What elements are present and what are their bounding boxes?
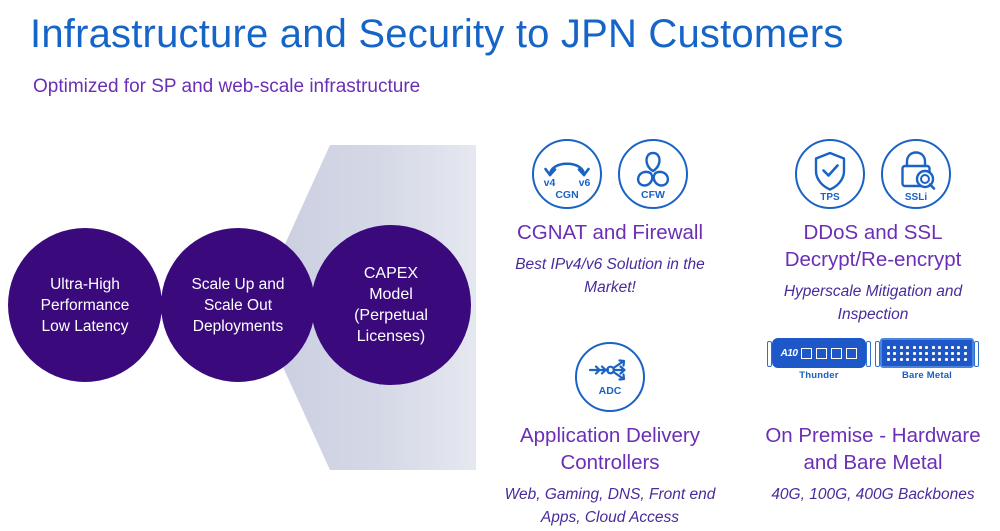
pillar-circle-scale: Scale Up and Scale Out Deployments	[161, 228, 315, 382]
feature-cgnat-heading: CGNAT and Firewall	[490, 219, 730, 246]
cgn-icon: v4 v6 CGN	[532, 139, 602, 209]
feature-hardware-heading: On Premise - Hardware and Bare Metal	[748, 422, 998, 476]
pillar-circle-performance-label: Ultra-High Performance Low Latency	[27, 274, 144, 337]
rack-ear-left-icon	[875, 341, 880, 367]
bare-metal-appliance-graphic	[880, 338, 974, 368]
feature-ddos: TPS SSLi DDoS and SSL Decrypt/Re-encrypt…	[748, 135, 998, 326]
ssli-lock-icon: SSLi	[881, 139, 951, 209]
port-icon	[801, 348, 812, 359]
feature-cgnat-icons: v4 v6 CGN CFW	[490, 135, 730, 213]
port-row	[887, 352, 967, 355]
svg-text:v6: v6	[579, 177, 591, 189]
cfw-icon: CFW	[618, 139, 688, 209]
feature-ddos-subtext: Hyperscale Mitigation and Inspection	[748, 280, 998, 326]
svg-text:SSLi: SSLi	[905, 192, 927, 203]
feature-hardware-subtext: 40G, 100G, 400G Backbones	[748, 483, 998, 506]
port-icon	[816, 348, 827, 359]
thunder-appliance: A10 Thunder	[772, 338, 866, 381]
feature-adc-heading: Application Delivery Controllers	[490, 422, 730, 476]
adc-icon: ADC	[575, 342, 645, 412]
value-pillars-diagram: Ultra-High Performance Low Latency Scale…	[0, 120, 500, 520]
port-icon	[846, 348, 857, 359]
pillar-circle-capex-label: CAPEX Model (Perpetual Licenses)	[340, 263, 442, 347]
pillar-circle-performance: Ultra-High Performance Low Latency	[8, 228, 162, 382]
pillar-circle-capex: CAPEX Model (Perpetual Licenses)	[311, 225, 471, 385]
pillar-circle-scale-label: Scale Up and Scale Out Deployments	[177, 274, 298, 337]
svg-text:ADC: ADC	[599, 385, 622, 397]
thunder-appliance-caption: Thunder	[772, 370, 866, 381]
feature-adc-icons: ADC	[490, 338, 730, 416]
page-title: Infrastructure and Security to JPN Custo…	[30, 8, 844, 60]
feature-adc-subtext: Web, Gaming, DNS, Front end Apps, Cloud …	[490, 483, 730, 529]
svg-text:CFW: CFW	[641, 189, 665, 201]
rack-ear-left-icon	[767, 341, 772, 367]
svg-text:v4: v4	[544, 177, 556, 189]
svg-text:CGN: CGN	[555, 189, 578, 201]
feature-hardware: A10 Thunder	[748, 338, 998, 506]
thunder-appliance-graphic: A10	[772, 338, 866, 368]
feature-ddos-heading: DDoS and SSL Decrypt/Re-encrypt	[748, 219, 998, 273]
feature-cgnat: v4 v6 CGN CFW CGNAT and Firewall Best IP…	[490, 135, 730, 299]
rack-ear-right-icon	[866, 341, 871, 367]
feature-ddos-icons: TPS SSLi	[748, 135, 998, 213]
page-subtitle: Optimized for SP and web-scale infrastru…	[33, 74, 420, 100]
rack-ear-right-icon	[974, 341, 979, 367]
feature-hardware-devices: A10 Thunder	[748, 338, 998, 416]
tps-shield-icon: TPS	[795, 139, 865, 209]
feature-adc: ADC Application Delivery Controllers Web…	[490, 338, 730, 529]
svg-text:TPS: TPS	[820, 192, 840, 203]
bare-metal-appliance: Bare Metal	[880, 338, 974, 381]
bare-metal-appliance-caption: Bare Metal	[880, 370, 974, 381]
feature-cgnat-subtext: Best IPv4/v6 Solution in the Market!	[490, 253, 730, 299]
port-icon	[831, 348, 842, 359]
port-row	[887, 346, 967, 349]
port-row	[887, 358, 967, 361]
a10-logo: A10	[781, 348, 798, 359]
